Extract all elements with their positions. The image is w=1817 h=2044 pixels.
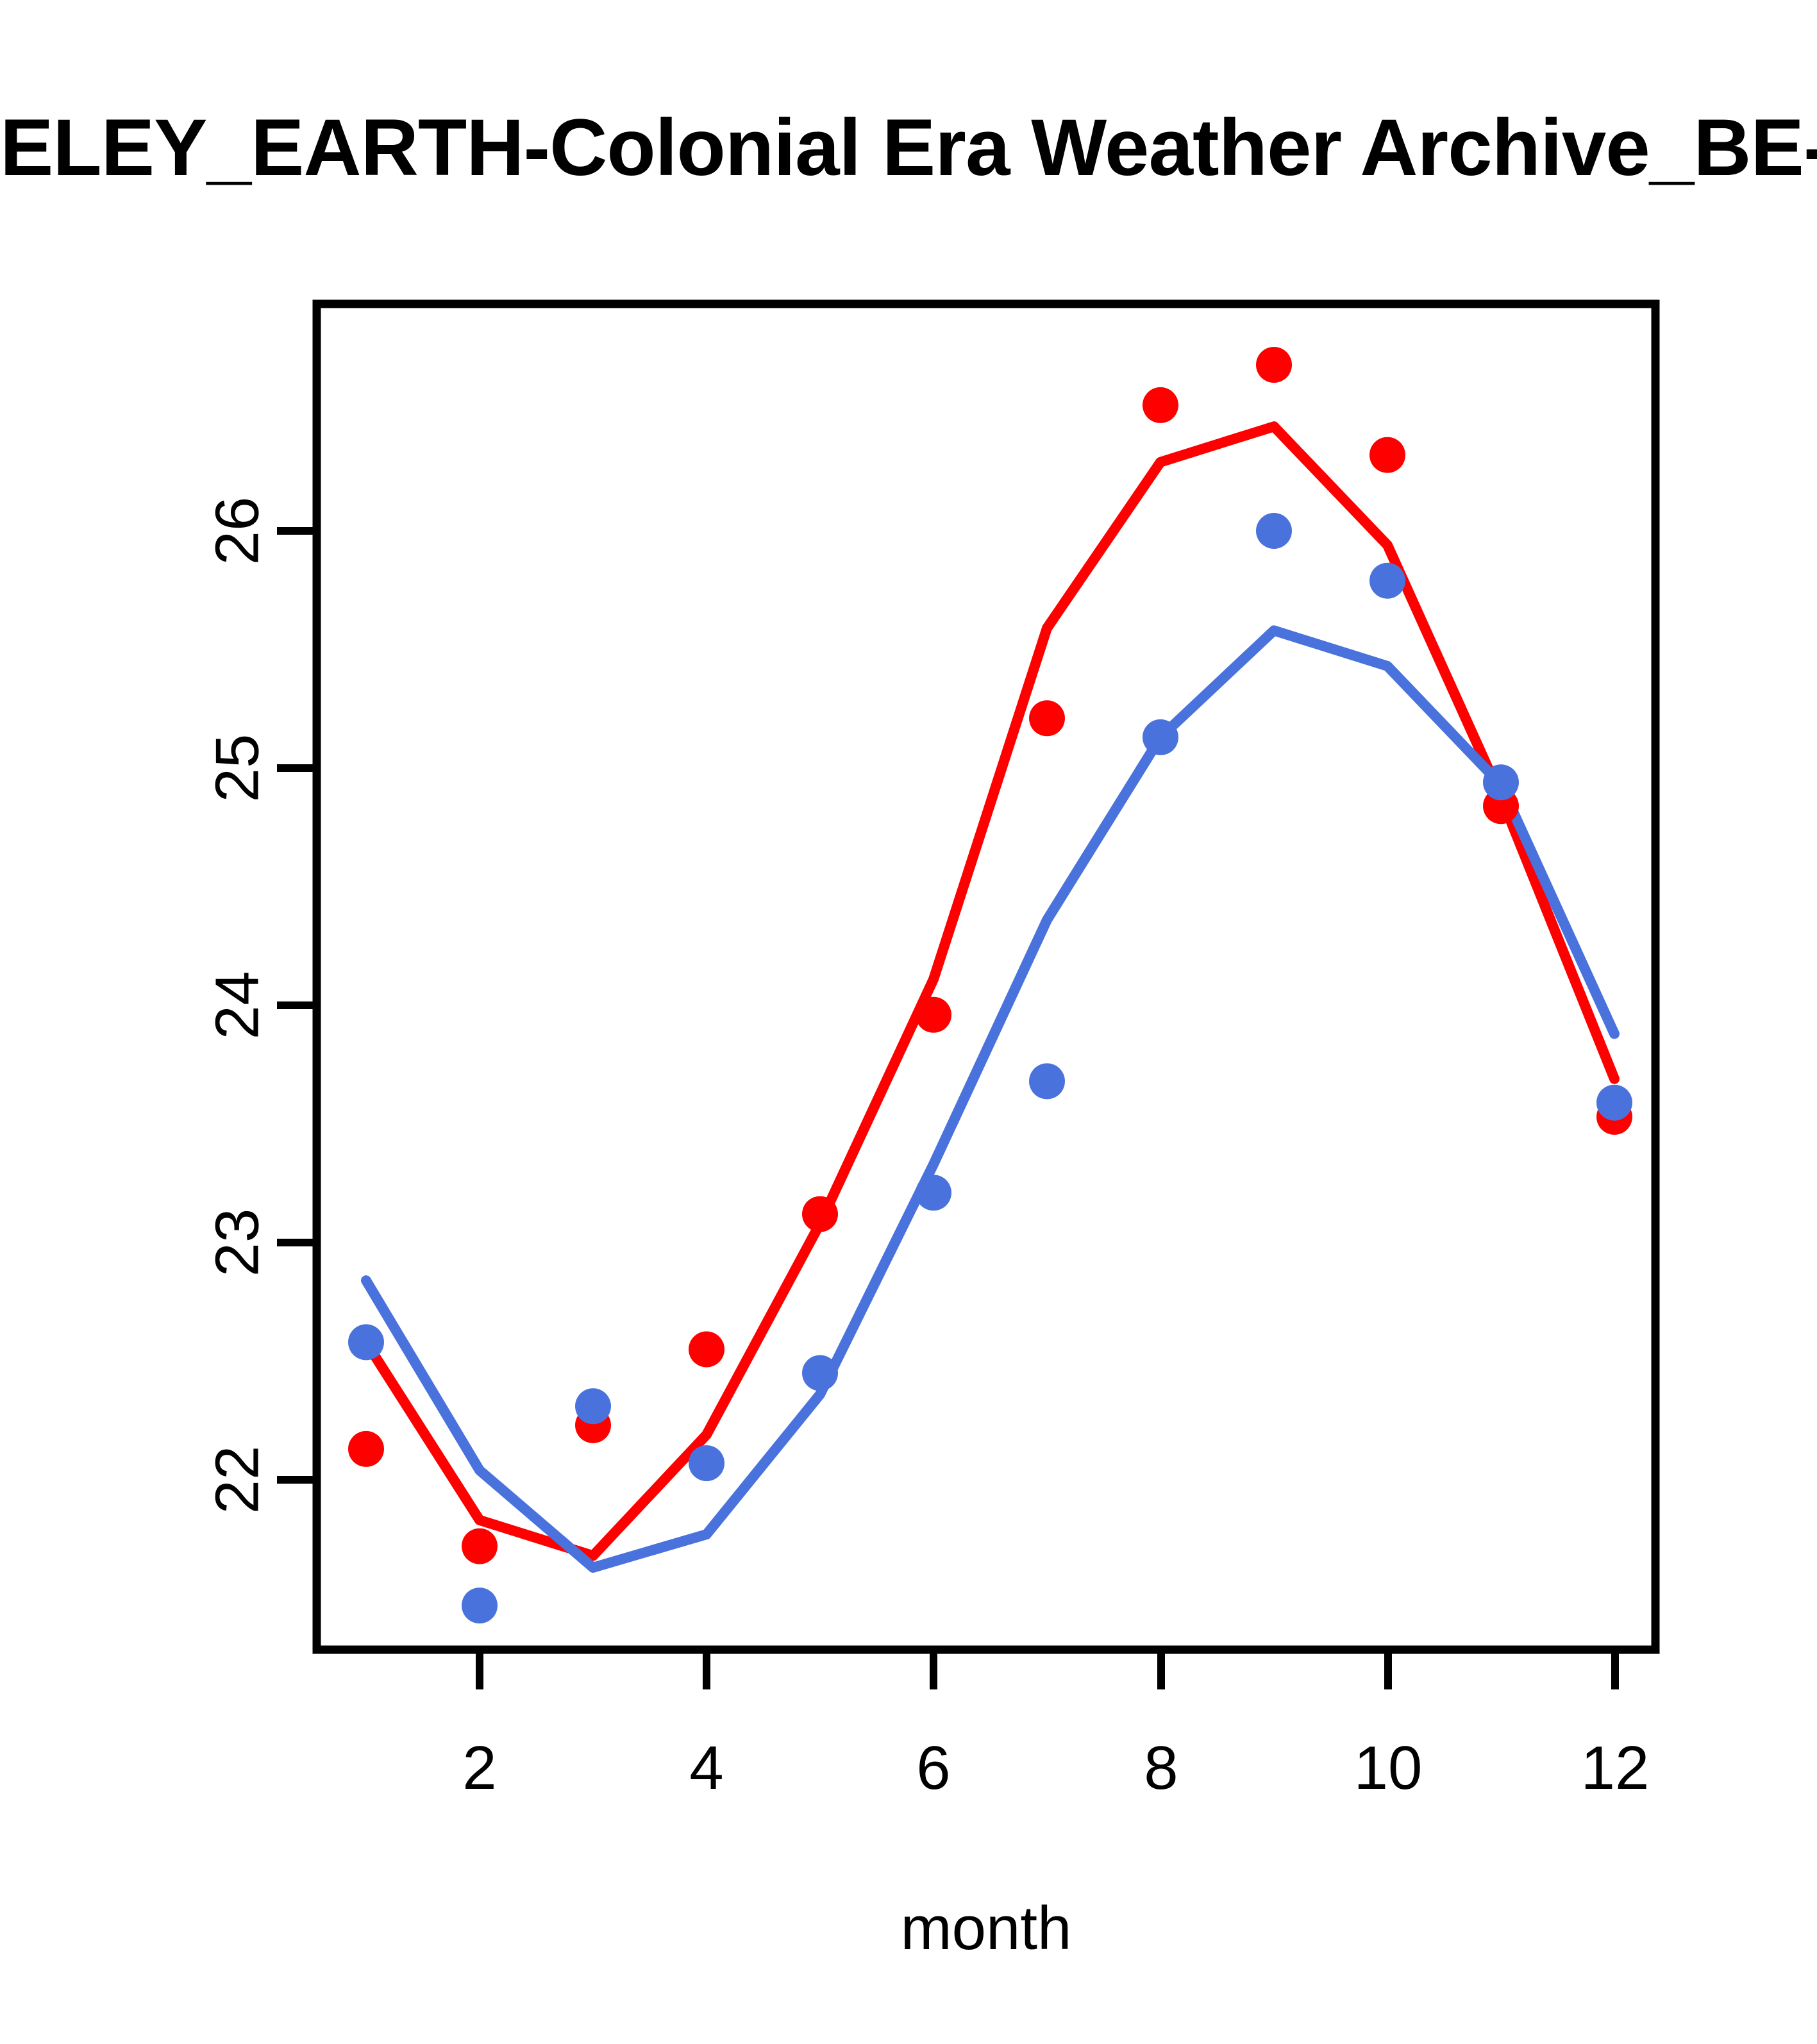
data-point <box>802 1355 838 1391</box>
data-point <box>1029 1063 1065 1099</box>
series-points-red-points <box>348 347 1632 1564</box>
data-point <box>916 1175 951 1210</box>
series-points-blue-points <box>348 513 1632 1623</box>
y-tick-label-22: 22 <box>203 1446 272 1514</box>
x-tick-label-2: 2 <box>462 1734 496 1802</box>
data-point <box>689 1332 724 1368</box>
data-point <box>1369 563 1405 599</box>
data-point <box>1143 387 1178 423</box>
data-point <box>575 1388 611 1424</box>
chart-page: ELEY_EARTH-Colonial Era Weather Archive_… <box>0 0 1817 2044</box>
y-axis-tick-labels: 26 25 24 23 22 <box>203 497 272 1514</box>
x-axis-ticks <box>480 1650 1615 1689</box>
x-axis-title: month <box>901 1894 1072 1963</box>
data-point <box>802 1196 838 1232</box>
data-point <box>1596 1085 1632 1121</box>
data-point <box>348 1324 384 1360</box>
x-tick-label-4: 4 <box>689 1734 723 1802</box>
data-point <box>1256 347 1292 383</box>
y-tick-label-25: 25 <box>203 734 272 803</box>
series-line-red-line <box>366 426 1614 1555</box>
x-axis-tick-labels: 2 4 6 8 10 12 <box>462 1734 1649 1802</box>
series-line-blue-line <box>366 630 1614 1567</box>
x-tick-label-12: 12 <box>1581 1734 1650 1802</box>
data-point <box>462 1587 498 1623</box>
plot-box <box>317 304 1655 1650</box>
data-point <box>1029 700 1065 736</box>
data-point <box>1483 764 1519 800</box>
data-point <box>462 1529 498 1564</box>
y-tick-label-26: 26 <box>203 497 272 565</box>
data-point <box>689 1445 724 1481</box>
y-axis-ticks <box>277 531 317 1480</box>
x-tick-label-6: 6 <box>916 1734 950 1802</box>
y-tick-label-24: 24 <box>203 971 272 1040</box>
data-point <box>916 997 951 1033</box>
y-tick-label-23: 23 <box>203 1209 272 1277</box>
data-point <box>1256 513 1292 549</box>
x-tick-label-10: 10 <box>1354 1734 1423 1802</box>
data-point <box>1143 719 1178 755</box>
x-tick-label-8: 8 <box>1144 1734 1178 1802</box>
data-point <box>348 1431 384 1467</box>
plot-canvas: 26 25 24 23 22 2 4 6 8 10 12 month <box>0 0 1817 2044</box>
series-layer <box>348 347 1632 1623</box>
data-point <box>1369 437 1405 473</box>
